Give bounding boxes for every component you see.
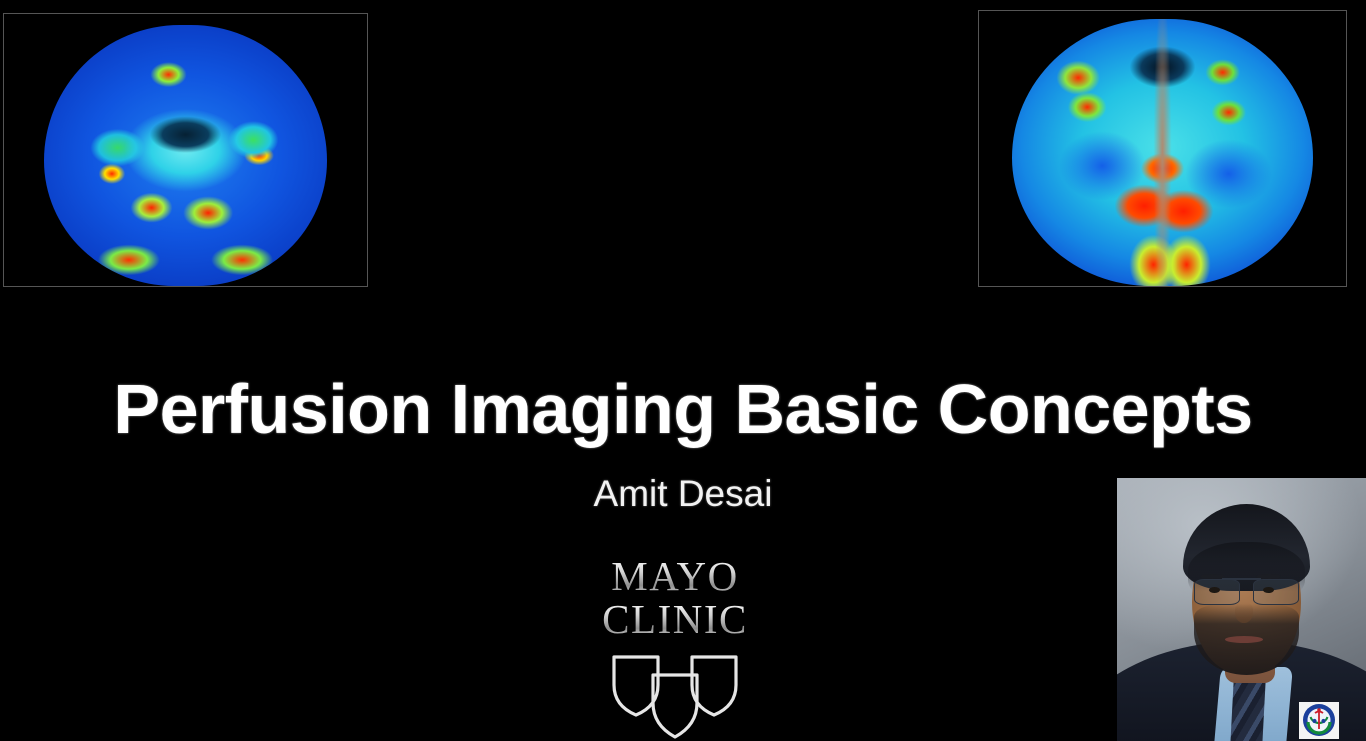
skull-outline-left	[44, 25, 327, 286]
page-title: Perfusion Imaging Basic Concepts	[0, 369, 1366, 449]
photo-nose	[1235, 602, 1252, 623]
photo-mouth	[1225, 636, 1262, 643]
scan-right-canvas	[979, 11, 1346, 286]
photo-glasses-bridge	[1222, 578, 1262, 580]
photo-lens-right	[1253, 579, 1299, 605]
scan-left-canvas	[4, 14, 367, 286]
skull-outline-right	[1012, 19, 1313, 286]
mayo-clinic-logo: MAYO CLINIC	[560, 556, 790, 739]
mayo-shields-icon	[604, 649, 746, 739]
brain-map-right	[1012, 19, 1313, 286]
medical-association-emblem-icon	[1299, 702, 1339, 739]
mayo-logo-wordmark-line2: CLINIC	[560, 599, 790, 640]
brain-map-left	[44, 25, 327, 286]
brain-perfusion-scan-right	[978, 10, 1347, 287]
brain-perfusion-scan-left	[3, 13, 368, 287]
mayo-logo-wordmark-line1: MAYO	[560, 556, 790, 597]
presentation-slide: Perfusion Imaging Basic Concepts Amit De…	[0, 0, 1366, 741]
